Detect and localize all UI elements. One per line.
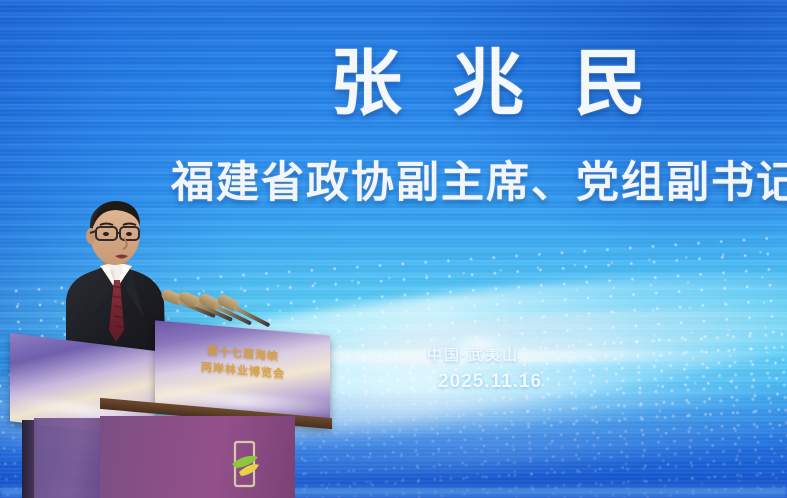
podium: 第十七届海峡 两岸林业博览会 <box>0 300 380 498</box>
event-date-text: 2025.11.16 <box>438 371 542 393</box>
stage-photo: 张 兆 民 福建省政协副主席、党组副书记 中国·武夷山 2025.11.16 <box>0 0 787 498</box>
event-location-text: 中国·武夷山 <box>427 344 519 365</box>
podium-body-left <box>34 418 102 498</box>
podium-banner-text: 第十七届海峡 两岸林业博览会 <box>201 342 285 382</box>
forestry-expo-leaf-logo <box>224 438 266 490</box>
speaker-role-title: 福建省政协副主席、党组副书记 <box>171 160 787 208</box>
speaker-name-title: 张 兆 民 <box>330 48 662 120</box>
speaker-ear <box>86 228 96 244</box>
